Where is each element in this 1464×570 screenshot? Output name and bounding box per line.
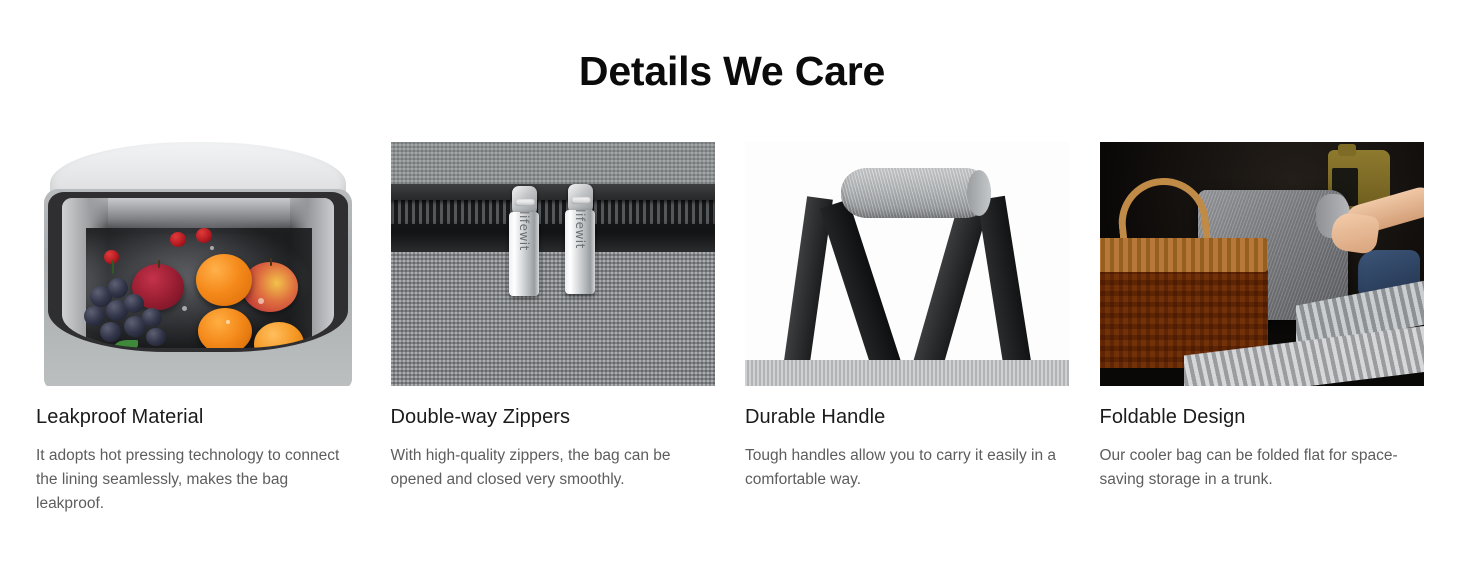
cherry xyxy=(196,228,212,243)
card-description: With high-quality zippers, the bag can b… xyxy=(391,444,713,492)
page-title: Details We Care xyxy=(0,43,1464,99)
water-droplet xyxy=(210,246,214,250)
grape xyxy=(108,278,128,298)
handle-pad-end xyxy=(967,170,991,216)
fabric-bottom xyxy=(391,252,715,386)
zipper-teeth xyxy=(391,200,715,224)
durable-handle-image xyxy=(745,142,1069,386)
bag-top-edge xyxy=(745,360,1069,386)
apple-stem xyxy=(158,260,160,268)
feature-card-double-way-zippers: lifewit lifewit Double-way Zippers With … xyxy=(391,142,715,516)
cherry-stem xyxy=(112,260,114,274)
water-droplet xyxy=(226,320,230,324)
oil-jug-cap xyxy=(1338,144,1356,156)
orange-fruit xyxy=(196,254,252,306)
green-leaf xyxy=(114,340,138,348)
water-droplet xyxy=(258,298,264,304)
feature-card-foldable-design: Foldable Design Our cooler bag can be fo… xyxy=(1100,142,1424,516)
zipper-pull-right: lifewit xyxy=(565,184,595,296)
zipper-pull-left: lifewit xyxy=(509,186,539,298)
card-description: Our cooler bag can be folded flat for sp… xyxy=(1100,444,1422,492)
card-title: Durable Handle xyxy=(745,404,1069,430)
apple-stem xyxy=(270,258,272,266)
double-way-zippers-image: lifewit lifewit xyxy=(391,142,715,386)
water-droplet xyxy=(182,306,187,311)
wicker-basket-lid xyxy=(1100,238,1268,272)
grape xyxy=(84,306,105,326)
grape xyxy=(124,294,144,313)
card-description: It adopts hot pressing technology to con… xyxy=(36,444,358,516)
card-title: Double-way Zippers xyxy=(391,404,715,430)
leakproof-material-image xyxy=(36,142,360,386)
handle-strap xyxy=(908,200,989,386)
feature-card-leakproof-material: Leakproof Material It adopts hot pressin… xyxy=(36,142,360,516)
grape xyxy=(100,322,121,342)
brand-label: lifewit xyxy=(517,198,531,264)
fabric-top xyxy=(391,142,715,186)
card-description: Tough handles allow you to carry it easi… xyxy=(745,444,1067,492)
handle-strap xyxy=(977,196,1034,386)
foldable-design-image xyxy=(1100,142,1424,386)
feature-card-durable-handle: Durable Handle Tough handles allow you t… xyxy=(745,142,1069,516)
feature-card-grid: Leakproof Material It adopts hot pressin… xyxy=(36,142,1428,516)
grape xyxy=(146,328,166,346)
orange-fruit xyxy=(198,308,252,348)
handle-strap xyxy=(820,199,906,385)
brand-label: lifewit xyxy=(573,196,587,262)
card-title: Foldable Design xyxy=(1100,404,1424,430)
cooler-interior xyxy=(62,198,334,348)
details-we-care-section: Details We Care xyxy=(0,0,1464,570)
card-title: Leakproof Material xyxy=(36,404,360,430)
cherry xyxy=(170,232,186,247)
grape xyxy=(142,308,162,327)
